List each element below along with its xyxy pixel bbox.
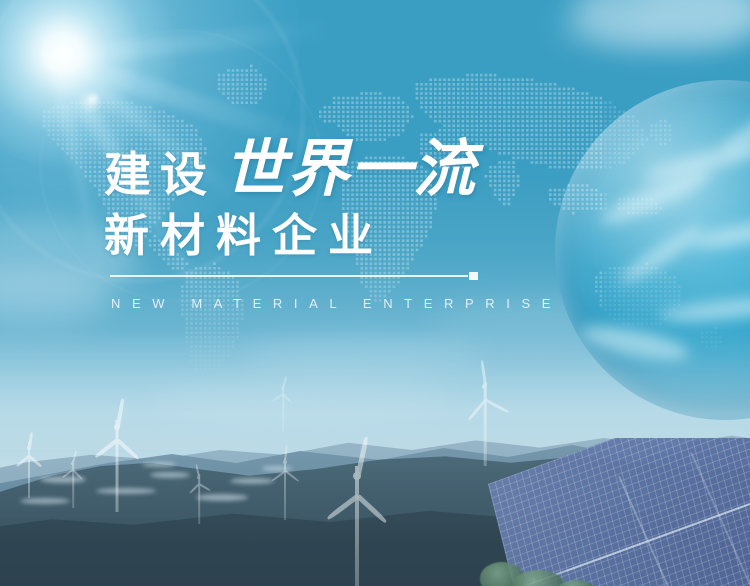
headline-emphasis: 世界一流 — [224, 139, 476, 201]
headline-text-block: 建设 世界一流 新材料企业 NEW MATERIAL ENTERPRISE — [0, 0, 750, 586]
headline-line-2: 新材料企业 — [104, 213, 384, 258]
divider-end-cap — [469, 272, 478, 280]
divider-rule — [110, 275, 468, 277]
headline-prefix: 建设 — [104, 151, 216, 198]
title-divider — [110, 272, 478, 280]
hero-banner: 建设 世界一流 新材料企业 NEW MATERIAL ENTERPRISE — [0, 0, 750, 586]
subtitle-english: NEW MATERIAL ENTERPRISE — [111, 297, 562, 310]
headline-line-1: 建设 世界一流 — [104, 139, 476, 198]
